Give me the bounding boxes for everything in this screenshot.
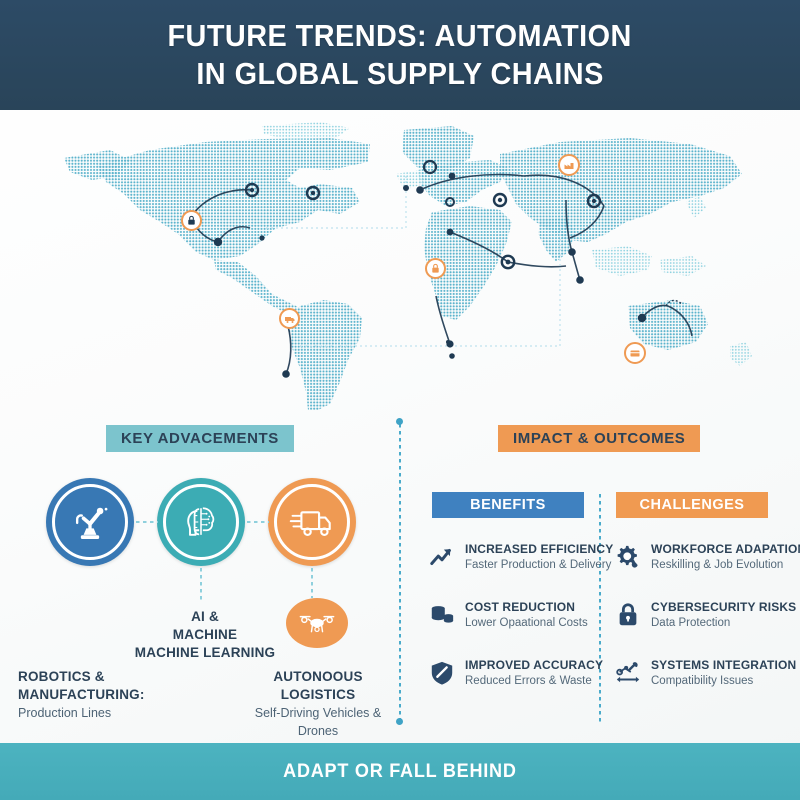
connector-ai-truck [247,521,269,523]
benefit-item-increased-efficiency: INCREASED EFFICIENCY Faster Production &… [428,542,613,573]
lock-icon [430,263,441,274]
challenge-item-workforce-adapation: WORKFORCE ADAPATION Reskilling & Job Evo… [614,542,800,573]
page-title-line-2: IN GLOBAL SUPPLY CHAINS [196,55,603,93]
logistics-label-title: AUTONOOUS LOGISTICS [236,668,400,704]
connector-ai-down [200,568,202,602]
challenge-title: CYBERSECURITY RISKS [651,600,796,615]
benefit-title: IMPROVED ACCURACY [465,658,603,673]
logistics-label-sub-1: Self-Driving Vehicles & [236,705,400,722]
impact-outcomes-badge: IMPACT & OUTCOMES [498,425,700,452]
trend-up-arrow-icon [428,543,456,571]
logistics-label-group: AUTONOOUS LOGISTICS Self-Driving Vehicle… [236,668,400,740]
challenge-title: WORKFORCE ADAPATION [651,542,800,557]
ai-label-line-3: MACHINE LEARNING [105,644,305,662]
logistics-circle-inner [274,484,350,560]
footer-text: ADAPT OR FALL BEHIND [283,761,516,783]
factory-icon [563,159,575,171]
gear-wrench-icon [614,543,642,571]
map-landmasses [64,122,752,410]
logistics-circle [268,478,356,566]
world-map-section [0,110,800,410]
infographic-page: FUTURE TRENDS: AUTOMATION IN GLOBAL SUPP… [0,0,800,800]
box-icon [629,347,641,359]
brain-head-icon [179,500,223,544]
lock-icon [186,215,197,226]
lock-marker-north-america [181,210,202,231]
connector-robot-ai [136,521,158,523]
benefit-title: COST REDUCTION [465,600,588,615]
challenge-sub: Reskilling & Job Evolution [651,558,800,573]
robot-arm-icon [68,500,112,544]
box-marker-australia [624,342,646,364]
connector-truck-down [311,568,313,598]
ai-circle-inner [163,484,239,560]
robotics-label-group: ROBOTICS & MANUFACTURING: Production Lin… [18,668,233,722]
challenge-item-systems-integration: SYSTEMS INTEGRATION Compatibility Issues [614,658,796,689]
coins-stack-icon [428,601,456,629]
nodes-wrench-icon [614,659,642,687]
lock-marker-africa [425,258,446,279]
benefit-sub: Lower Opaational Costs [465,616,588,631]
robotics-label-sub: Production Lines [18,705,233,722]
ai-label-group: AI & MACHINE MACHINE LEARNING [105,608,305,662]
factory-marker-asia [558,154,580,176]
robotics-label-title: ROBOTICS & MANUFACTURING: [18,668,233,704]
page-title-line-1: FUTURE TRENDS: AUTOMATION [168,17,632,55]
benefits-heading: BENEFITS [432,492,584,518]
shield-check-icon [428,659,456,687]
truck-marker-south-america [279,308,300,329]
ai-circle [157,478,245,566]
truck-icon [284,313,296,325]
footer-banner: ADAPT OR FALL BEHIND [0,743,800,800]
delivery-truck-icon [289,499,335,545]
challenge-item-cybersecurity-risks: CYBERSECURITY RISKS Data Protection [614,600,796,631]
benefit-item-cost-reduction: COST REDUCTION Lower Opaational Costs [428,600,588,631]
benefit-sub: Faster Production & Delivery [465,558,613,573]
padlock-icon [614,601,642,629]
challenge-sub: Compatibility Issues [651,674,796,689]
robotics-circle-inner [52,484,128,560]
challenge-title: SYSTEMS INTEGRATION [651,658,796,673]
benefit-item-improved-accuracy: IMPROVED ACCURACY Reduced Errors & Waste [428,658,603,689]
ai-label-line-2: MACHINE [105,626,305,644]
world-map-graphic [0,110,800,410]
benefit-title: INCREASED EFFICIENCY [465,542,613,557]
challenge-sub: Data Protection [651,616,796,631]
challenges-heading: CHALLENGES [616,492,768,518]
divider-dot-top [396,418,403,425]
logistics-label-sub-2: Drones [236,723,400,740]
key-advancements-badge: KEY ADVACEMENTS [106,425,294,452]
benefit-sub: Reduced Errors & Waste [465,674,603,689]
ai-label-line-1: AI & [105,608,305,626]
robotics-circle [46,478,134,566]
header-banner: FUTURE TRENDS: AUTOMATION IN GLOBAL SUPP… [0,0,800,110]
